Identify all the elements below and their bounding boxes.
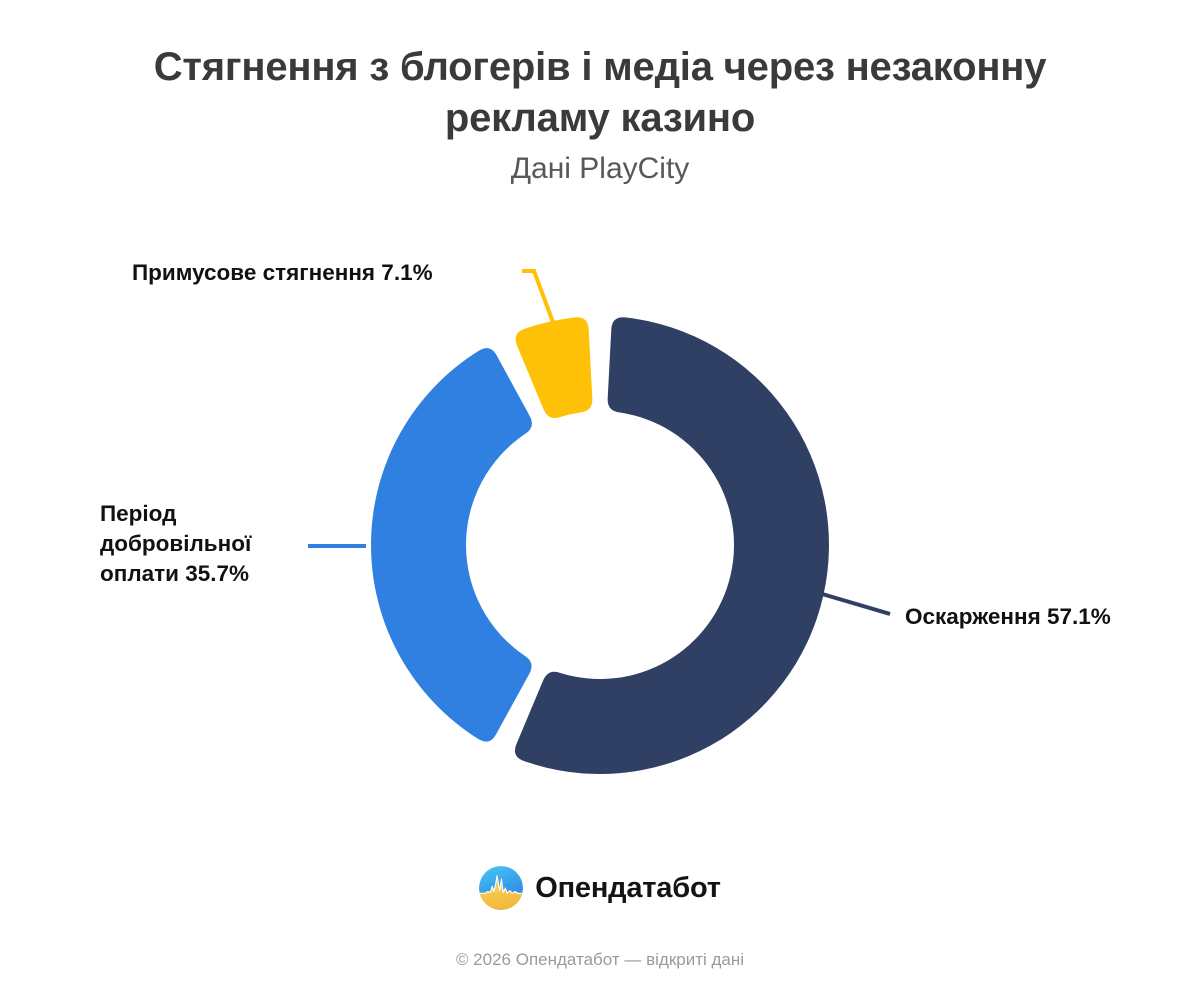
donut-slices: Оскарження 57.1%Період добровільної опла… <box>371 317 829 774</box>
donut-chart: Оскарження 57.1%Період добровільної опла… <box>0 0 1200 1000</box>
opendatabot-logo-icon <box>479 866 523 910</box>
brand-block: Опендатабот <box>0 866 1200 910</box>
slice-label-voluntary: Період добровільної оплати 35.7% <box>100 499 300 589</box>
footer-copyright: © 2026 Опендатабот — відкриті дані <box>0 950 1200 970</box>
donut-slice[interactable]: Примусове стягнення 7.1% <box>516 317 593 418</box>
slice-label-forced: Примусове стягнення 7.1% <box>132 258 433 288</box>
slice-label-appeal: Оскарження 57.1% <box>905 602 1111 632</box>
chart-page: Стягнення з блогерів і медіа через незак… <box>0 0 1200 1000</box>
brand-name: Опендатабот <box>535 872 721 905</box>
donut-slice[interactable]: Період добровільної оплати 35.7% <box>371 348 532 741</box>
leader-line-appeal <box>812 591 890 614</box>
